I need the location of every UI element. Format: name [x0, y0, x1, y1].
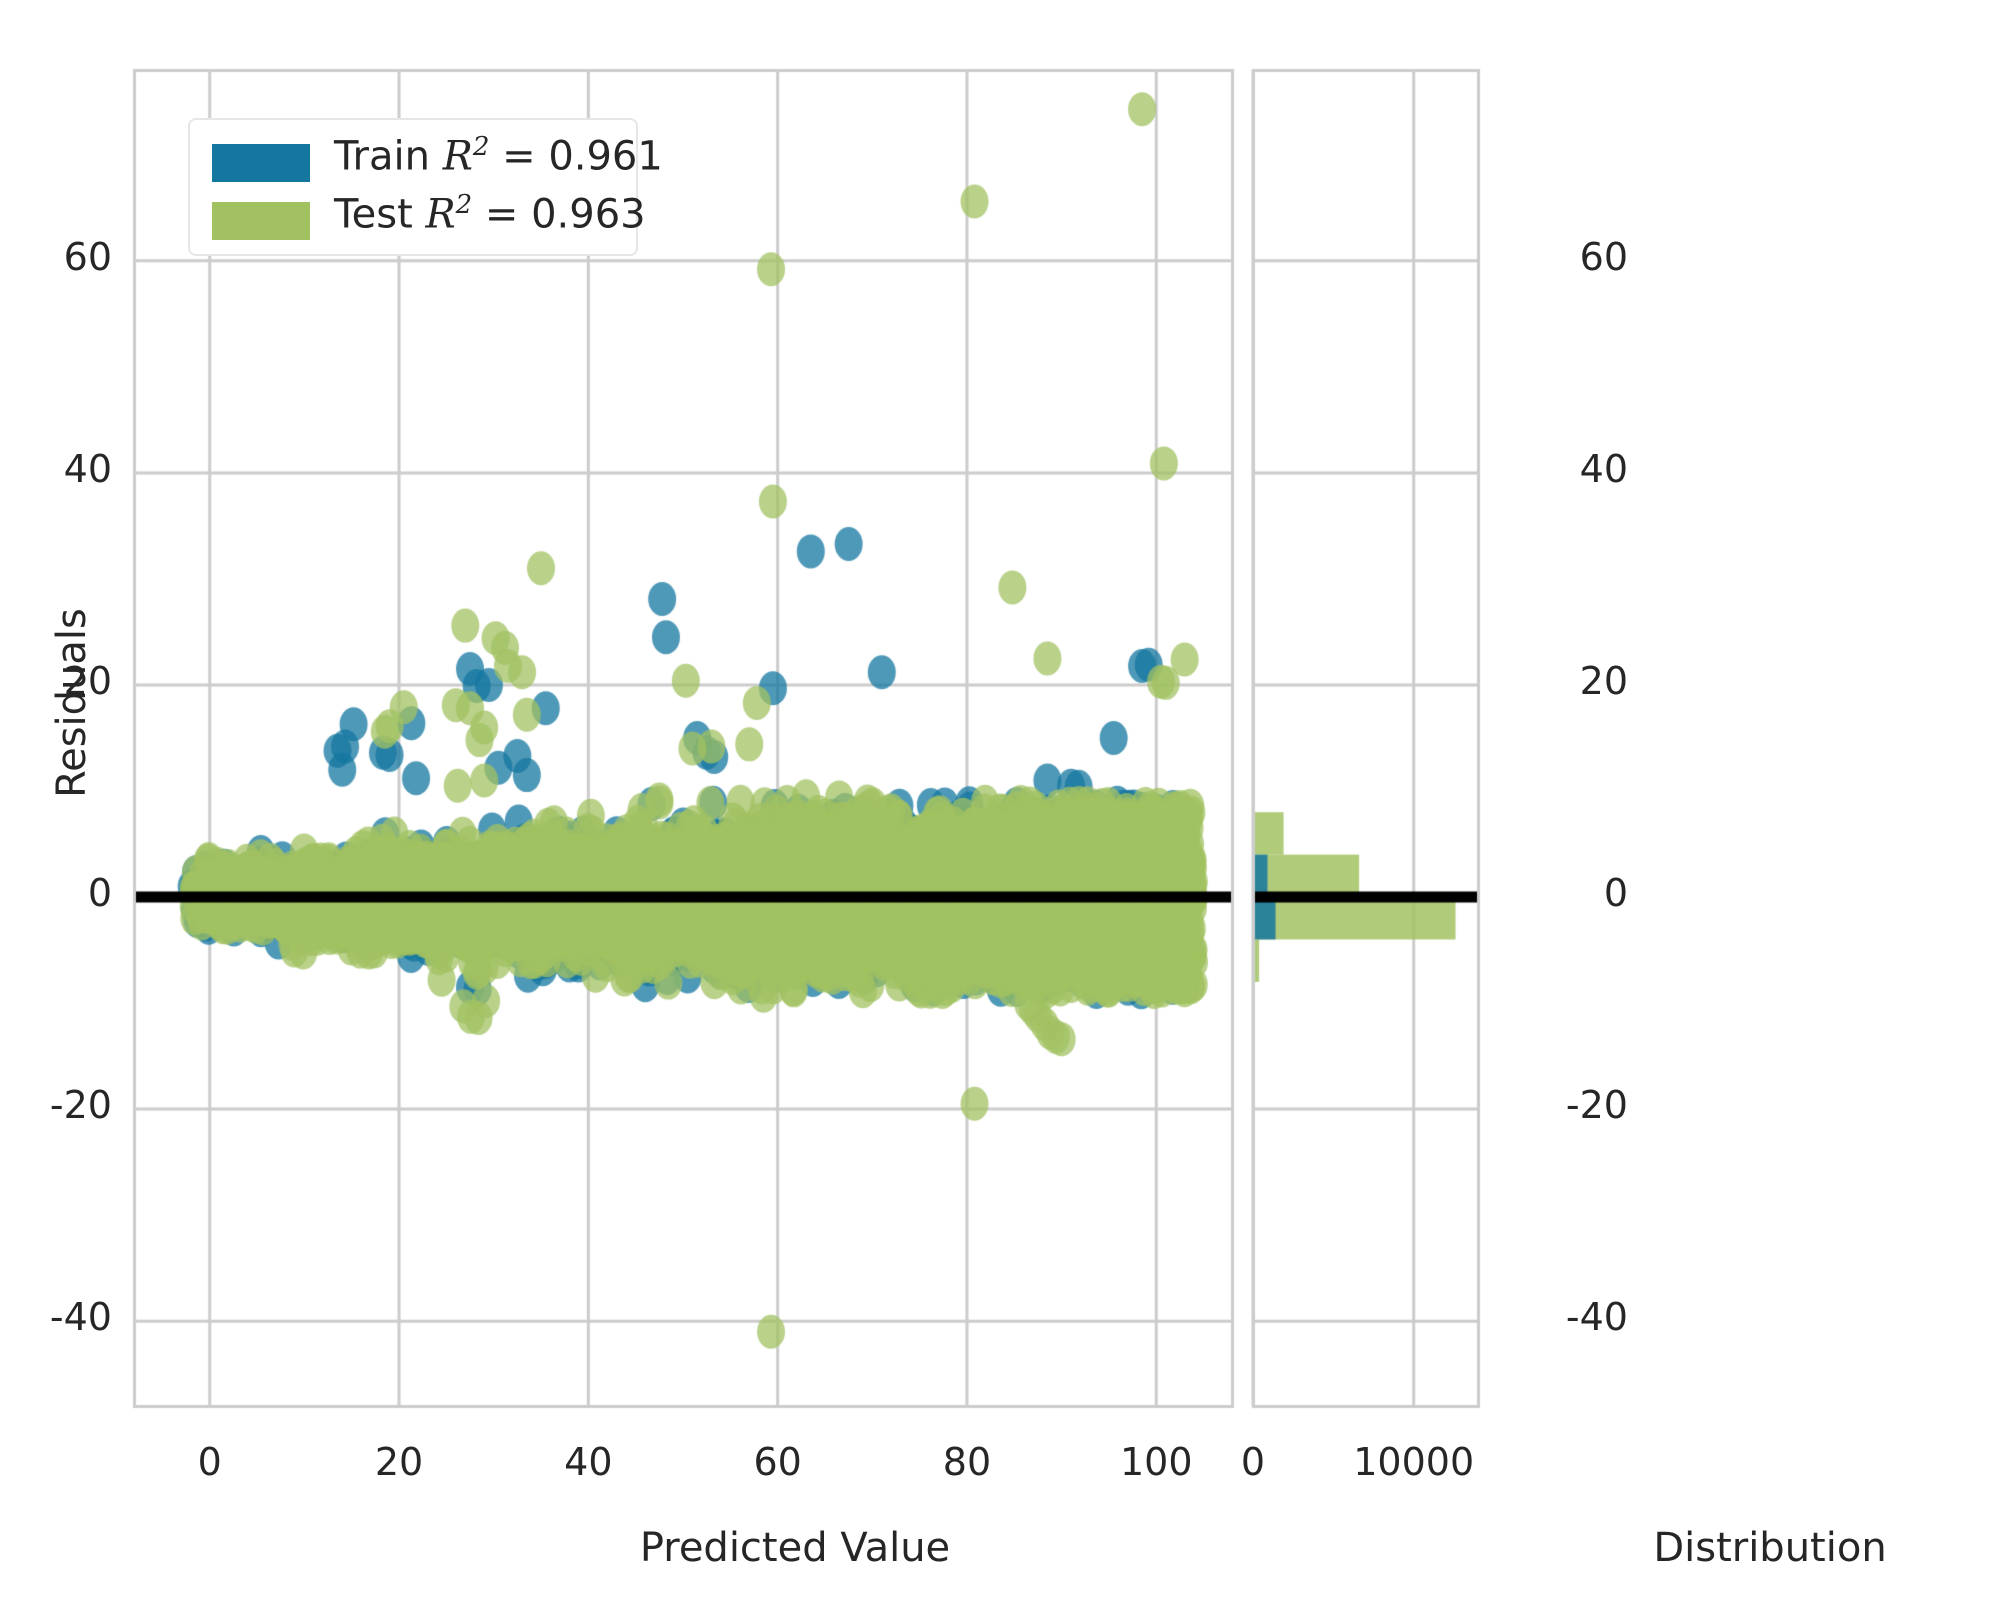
hist-x-tick-10000: 10000 [1334, 1440, 1494, 1484]
x-tick-0: 0 [130, 1440, 290, 1484]
y-axis-title: Residuals [49, 553, 95, 853]
legend-label-train: Train R2 = 0.961 [334, 132, 663, 179]
legend: Train R2 = 0.961 Test R2 = 0.963 [188, 118, 638, 256]
y-tick--40: -40 [0, 1295, 112, 1339]
y-tick-20: 20 [0, 659, 112, 703]
legend-swatch-test [212, 202, 310, 240]
hist-y-tick-0: 0 [1508, 871, 1628, 915]
y-tick-40: 40 [0, 447, 112, 491]
x-tick-60: 60 [698, 1440, 858, 1484]
y-tick-60: 60 [0, 235, 112, 279]
x-tick-80: 80 [887, 1440, 1047, 1484]
hist-y-tick-40: 40 [1508, 447, 1628, 491]
y-tick-0: 0 [0, 871, 112, 915]
y-tick--20: -20 [0, 1083, 112, 1127]
hist-x-axis-title: Distribution [1570, 1525, 1970, 1571]
legend-label-test: Test R2 = 0.963 [334, 190, 646, 237]
x-tick-20: 20 [319, 1440, 479, 1484]
x-axis-title: Predicted Value [570, 1525, 1020, 1571]
hist-x-tick-0: 0 [1173, 1440, 1333, 1484]
residuals-plot-figure: Residuals Predicted Value Distribution T… [0, 0, 2000, 1602]
hist-y-tick-20: 20 [1508, 659, 1628, 703]
hist-y-tick--40: -40 [1508, 1295, 1628, 1339]
hist-y-tick-60: 60 [1508, 235, 1628, 279]
x-tick-40: 40 [508, 1440, 668, 1484]
legend-swatch-train [212, 144, 310, 182]
hist-y-tick--20: -20 [1508, 1083, 1628, 1127]
